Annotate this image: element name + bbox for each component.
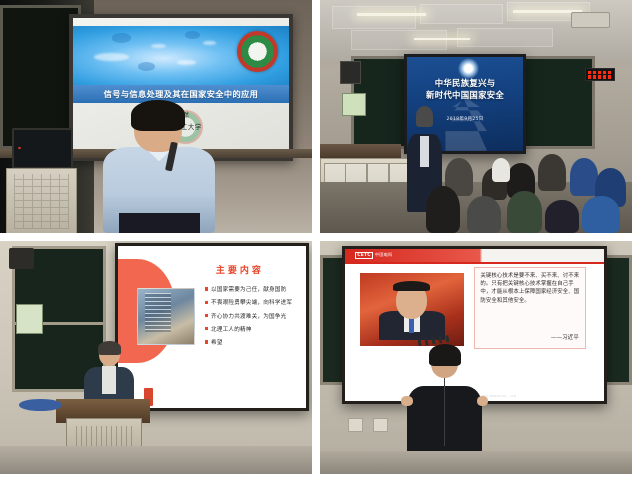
wall-outlet: [348, 418, 362, 432]
speaker-left-hand: [401, 396, 412, 406]
list-item: 北理工人的精神: [205, 325, 302, 333]
slide-light-glow: [458, 58, 479, 79]
cabinet-grille: [14, 174, 69, 229]
list-item: 以国家需要为己任，献身国防: [205, 285, 302, 293]
slide-portrait-photo: [360, 273, 464, 346]
speaker-trousers: [119, 213, 200, 233]
control-monitor: [12, 128, 72, 169]
speaker-hair: [416, 106, 434, 127]
bullet-text: 以国家需要为己任，献身国防: [211, 285, 286, 293]
photo-collage: 信号与信息处理及其在国家安全中的应用 陶 然 北京理工大学: [0, 0, 640, 480]
speaker-hair: [98, 341, 121, 354]
bullet-marker-icon: [205, 327, 208, 330]
list-item: 不畏艰险勇攀尖端，向科学进军: [205, 298, 302, 306]
bullet-marker-icon: [205, 301, 208, 304]
led-row-top-icon: [588, 71, 612, 74]
wall-speaker: [9, 248, 34, 269]
bullet-marker-icon: [205, 340, 208, 343]
university-seal-icon: [237, 31, 278, 72]
logo-text: 中国电科: [375, 252, 393, 258]
bullet-text: 希望: [211, 338, 223, 346]
wall-speaker: [340, 61, 361, 84]
logo-mark-icon: CETC: [355, 252, 373, 259]
power-led-icon: [18, 147, 21, 150]
bullet-text: 齐心协力共渡难关，为国争光: [211, 312, 286, 320]
ceiling-projector: [571, 12, 610, 28]
bullet-marker-icon: [205, 314, 208, 317]
slide-building-photo: [137, 288, 195, 345]
bullet-text: 北理工人的精神: [211, 325, 252, 333]
speaker-jacket-zipper: [444, 376, 445, 446]
bullet-marker-icon: [205, 287, 208, 290]
panel-bottom-left: 主要内容 以国家需要为己任，献身国防 不畏艰险勇攀尖端，向科学进军 齐心协力共渡…: [0, 241, 312, 474]
wall-outlet: [373, 418, 387, 432]
slide-title-bar: 信号与信息处理及其在国家安全中的应用: [73, 85, 290, 104]
projection-screen: 主要内容 以国家需要为己任，献身国防 不畏艰险勇攀尖端，向科学进军 齐心协力共渡…: [115, 243, 308, 411]
quote-text: 关键核心技术是要不来、买不来、讨不来的。只有把关键核心技术掌握在自己手中，才能从…: [480, 272, 579, 305]
speaker-shirt: [102, 366, 116, 395]
room-floor: [320, 451, 632, 474]
slide-header-graphic: [73, 26, 290, 84]
speaker-hair: [131, 100, 185, 131]
wall-notice-board: [342, 93, 366, 116]
panel-top-left: 信号与信息处理及其在国家安全中的应用 陶 然 北京理工大学: [0, 0, 312, 233]
speaker-right-hand: [477, 396, 488, 406]
speaker-hair: [429, 344, 460, 365]
panel-top-right: 中华民族复兴与 新时代中国国家安全 2018年9月25日: [320, 0, 632, 233]
slide-bullet-list: 以国家需要为己任，献身国防 不畏艰险勇攀尖端，向科学进军 齐心协力共渡难关，为国…: [205, 285, 302, 351]
quote-attribution: ——习近平: [551, 333, 579, 341]
wall-cabinet: [6, 168, 77, 233]
speaker-figure: [103, 103, 215, 233]
slide-title-line1: 中华民族复兴与: [412, 77, 518, 89]
portrait-hair: [393, 281, 430, 291]
bullet-text: 不畏艰险勇攀尖端，向科学进军: [211, 298, 292, 306]
led-row-bottom-icon: [588, 75, 612, 78]
slide-title: 信号与信息处理及其在国家安全中的应用: [104, 88, 259, 100]
list-item: 希望: [205, 338, 302, 346]
cetc-logo: CETC 中国电科: [355, 252, 392, 259]
temple-of-heaven-silhouette-icon: [437, 96, 495, 151]
slide-title: 主要内容: [216, 263, 264, 276]
slide-title: 中华民族复兴与 新时代中国国家安全: [412, 77, 518, 101]
speaker-shirt: [420, 136, 430, 167]
room-floor: [0, 446, 312, 474]
slide-quote-box: 关键核心技术是要不来、买不来、讨不来的。只有把关键核心技术掌握在自己手中，才能从…: [474, 267, 585, 349]
slide-title-line2: 新时代中国国家安全: [412, 89, 518, 101]
wall-notice-board: [16, 304, 43, 334]
room-ceiling: [320, 0, 632, 61]
panel-bottom-right: CETC 中国电科 关键核心技术是要不来、买不来、讨不来的。只有把关键核心技术掌…: [320, 241, 632, 474]
led-display-sign: [585, 68, 615, 82]
list-item: 齐心协力共渡难关，为国争光: [205, 312, 302, 320]
